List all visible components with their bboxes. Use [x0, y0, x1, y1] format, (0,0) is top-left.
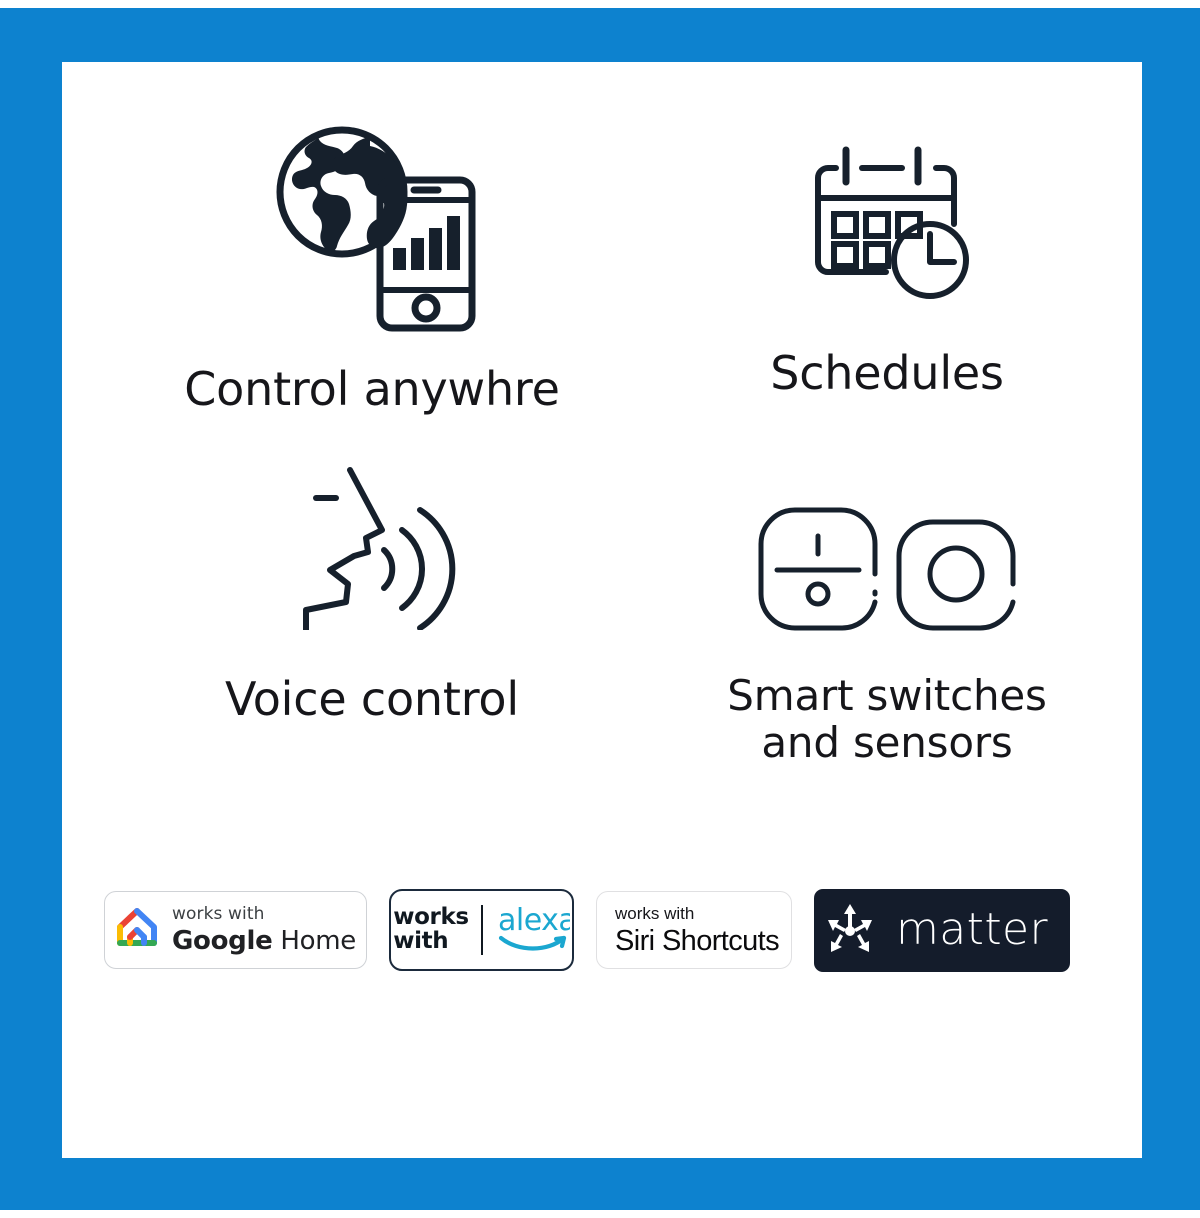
feature-caption: Control anywhre — [184, 364, 559, 416]
badge-works-with-label: works with — [615, 905, 694, 922]
feature-grid: Control anywhre — [62, 62, 1142, 852]
badge-matter[interactable]: matter — [814, 889, 1070, 972]
feature-control-anywhere: Control anywhre — [102, 120, 642, 416]
badge-works-with-label: works with — [172, 906, 356, 923]
home-wordmark: Home — [272, 926, 356, 956]
badge-works-with-alexa[interactable]: works with alexa — [389, 889, 574, 971]
feature-schedules: Schedules — [637, 134, 1137, 400]
matter-logo-icon — [822, 900, 878, 960]
google-home-house-icon — [115, 906, 159, 954]
feature-smart-switches-and-sensors: Smart switches and sensors — [637, 502, 1137, 766]
google-wordmark: Google — [172, 926, 272, 956]
badge-works-with-label: works with — [393, 906, 480, 954]
amazon-alexa-smile-icon: alexa — [483, 902, 570, 958]
globe-smartphone-icon — [266, 120, 478, 340]
calendar-clock-icon — [794, 134, 980, 318]
badge-brand-label: Siri Shortcuts — [615, 927, 779, 956]
feature-voice-control: Voice control — [102, 460, 642, 726]
svg-text:alexa: alexa — [498, 903, 570, 938]
matter-wordmark: matter — [896, 908, 1048, 952]
badge-works-with-siri-shortcuts[interactable]: works with Siri Shortcuts — [596, 891, 792, 969]
switch-sensor-icon — [755, 502, 1019, 638]
feature-caption: Smart switches and sensors — [727, 672, 1046, 766]
badge-works-with-google-home[interactable]: works with Google Home — [104, 891, 367, 969]
feature-caption: Schedules — [770, 348, 1004, 400]
poster-blue-frame: Control anywhre — [0, 8, 1200, 1210]
feature-caption: Voice control — [225, 674, 519, 726]
content-panel: Control anywhre — [62, 62, 1142, 1158]
badge-brand-label: Google Home — [172, 928, 356, 954]
compatibility-badge-row: works with Google Home works with alexa — [104, 884, 1114, 976]
speaking-head-icon — [284, 460, 460, 634]
